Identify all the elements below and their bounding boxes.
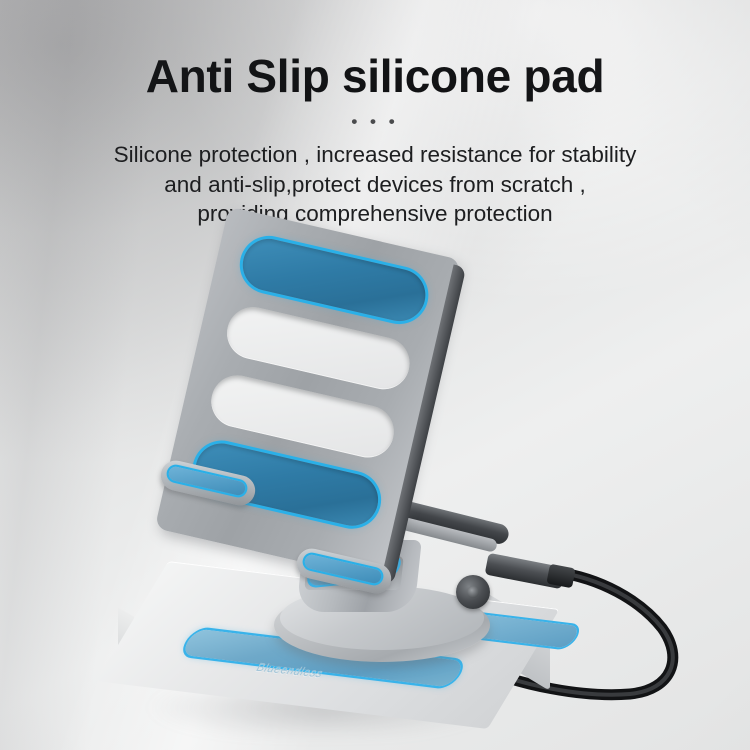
hinge-knuckle xyxy=(456,575,490,609)
product-image: Blueendless xyxy=(0,0,750,750)
product-banner: Anti Slip silicone pad • • • Silicone pr… xyxy=(0,0,750,750)
